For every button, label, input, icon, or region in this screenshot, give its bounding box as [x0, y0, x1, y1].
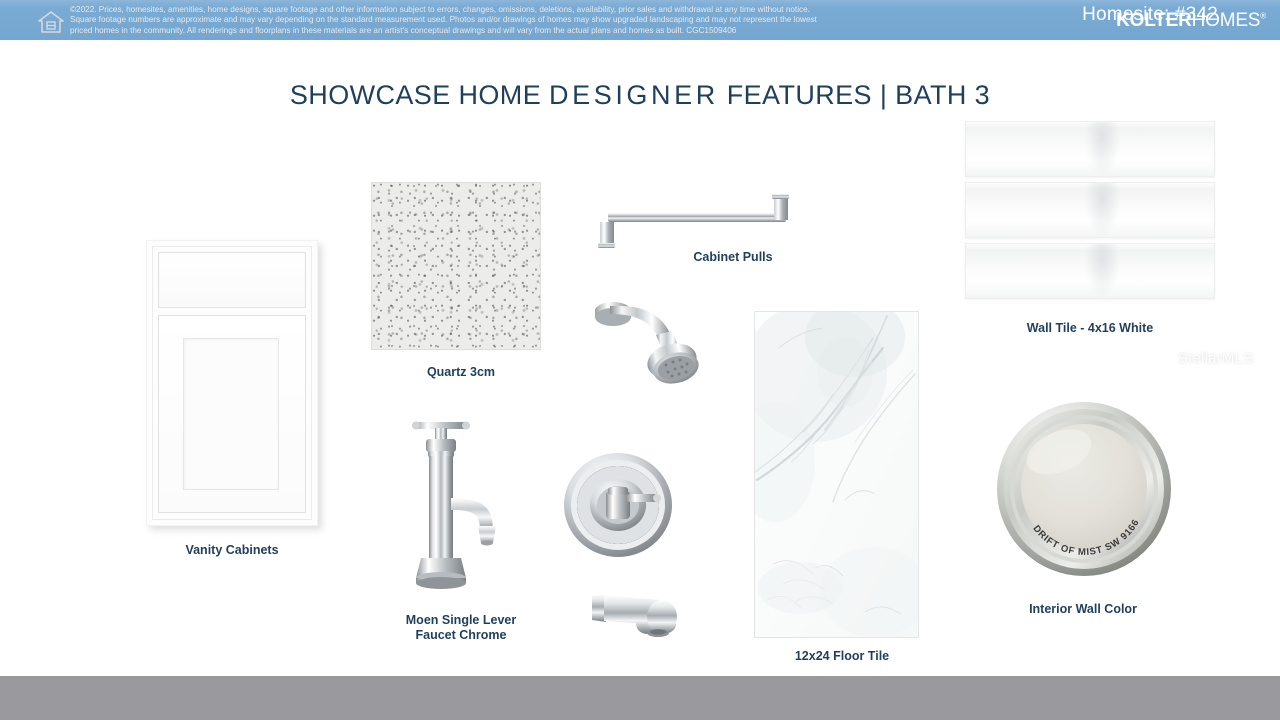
- cabinet-drawer: [158, 252, 306, 308]
- cabinet-door-panel: [183, 338, 279, 490]
- shower-valve-trim-image: [556, 450, 681, 560]
- footer-disclaimer: ©2022. Prices, homesites, amenities, hom…: [70, 5, 1080, 36]
- valve-trim-svg: [556, 450, 681, 560]
- logo-registered-mark: ®: [1260, 12, 1266, 21]
- cabinet-door: [158, 315, 306, 513]
- kolter-homes-logo: KOLTERHOMES®: [1116, 10, 1266, 32]
- footer-bar: [0, 676, 1280, 720]
- floor-tile-image: [754, 311, 919, 638]
- shower-head-svg: [588, 295, 728, 405]
- faucet-label: Moen Single Lever Faucet Chrome: [366, 613, 556, 643]
- faucet-svg: [396, 412, 521, 607]
- page-title-designer: DESIGNER: [549, 80, 719, 110]
- interior-wall-color-label: Interior Wall Color: [1003, 602, 1163, 617]
- wall-tile-3-image: [965, 243, 1215, 299]
- floor-tile-label: 12x24 Floor Tile: [762, 649, 922, 664]
- wall-tile-1-image: [965, 121, 1215, 177]
- floor-tile-svg: [755, 312, 918, 637]
- tub-spout-svg: [588, 588, 698, 648]
- page-title: SHOWCASE HOME DESIGNER FEATURES | BATH 3: [0, 80, 1280, 111]
- equal-housing-opportunity-icon: [38, 10, 64, 34]
- wall-tile-label: Wall Tile - 4x16 White: [965, 321, 1215, 336]
- logo-kolter: KOLTER: [1116, 10, 1192, 31]
- logo-homes: HOMES: [1192, 10, 1261, 31]
- quartz-label: Quartz 3cm: [381, 365, 541, 380]
- quartz-swatch-image: [371, 182, 541, 350]
- wall-tile-2-image: [965, 182, 1215, 238]
- page-title-part1: SHOWCASE HOME: [290, 80, 549, 110]
- stellar-mls-watermark: StellarMLS: [1178, 350, 1253, 367]
- tub-spout-image: [588, 588, 698, 648]
- page-title-part3: FEATURES | BATH 3: [719, 80, 990, 110]
- vanity-cabinets-label: Vanity Cabinets: [152, 543, 312, 558]
- cabinet-pulls-label: Cabinet Pulls: [653, 250, 813, 265]
- shower-head-image: [588, 295, 728, 405]
- vanity-cabinet-image: [146, 240, 318, 526]
- paint-can-image: DRIFT OF MIST SW 9166: [995, 400, 1173, 578]
- moen-faucet-image: [396, 412, 521, 607]
- paint-can-svg: DRIFT OF MIST SW 9166: [995, 400, 1173, 578]
